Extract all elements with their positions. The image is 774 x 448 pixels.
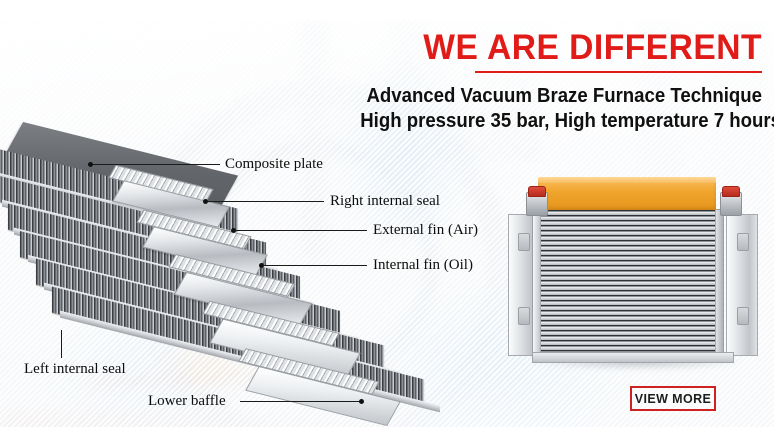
- bracket-slot: [737, 233, 749, 251]
- bracket-slot: [518, 233, 530, 251]
- leader-line-internal-fin: [263, 265, 367, 266]
- annotation-external-fin: External fin (Air): [373, 223, 478, 238]
- exploded-heat-exchanger-diagram: [0, 140, 460, 430]
- leader-line-left-internal-seal: [61, 330, 62, 358]
- orange-top-tank: [538, 180, 716, 210]
- subtitle-line-2: High pressure 35 bar, High temperature 7…: [360, 110, 762, 133]
- annotation-internal-fin: Internal fin (Oil): [373, 258, 473, 273]
- leader-line-composite-plate: [92, 164, 220, 165]
- leader-line-right-internal-seal: [207, 201, 324, 202]
- core-bottom-rail: [532, 352, 734, 363]
- promo-banner: WE ARE DIFFERENT Advanced Vacuum Braze F…: [0, 0, 774, 448]
- bracket-slot: [737, 307, 749, 325]
- view-more-button[interactable]: VIEW MORE: [630, 386, 716, 411]
- port-cap-right: [722, 186, 740, 197]
- page-title: WE ARE DIFFERENT: [347, 30, 762, 65]
- title-underline-rule: [475, 71, 762, 73]
- bracket-slot: [518, 307, 530, 325]
- annotation-lower-baffle: Lower baffle: [148, 394, 226, 409]
- port-cap-left: [528, 186, 546, 197]
- leader-line-external-fin: [235, 230, 367, 231]
- headline-block: WE ARE DIFFERENT Advanced Vacuum Braze F…: [330, 30, 762, 133]
- leader-dot: [359, 399, 364, 404]
- leader-line-lower-baffle: [240, 401, 361, 402]
- annotation-composite-plate: Composite plate: [225, 157, 323, 172]
- subtitle-line-1: Advanced Vacuum Braze Furnace Technique: [360, 85, 762, 108]
- orange-top-tank-face: [538, 177, 716, 183]
- product-photo-oil-cooler: [512, 176, 764, 376]
- mounting-bracket-right: [726, 214, 758, 356]
- annotation-left-internal-seal: Left internal seal: [24, 362, 126, 377]
- annotation-right-internal-seal: Right internal seal: [330, 194, 440, 209]
- cooler-fin-core: [540, 209, 716, 356]
